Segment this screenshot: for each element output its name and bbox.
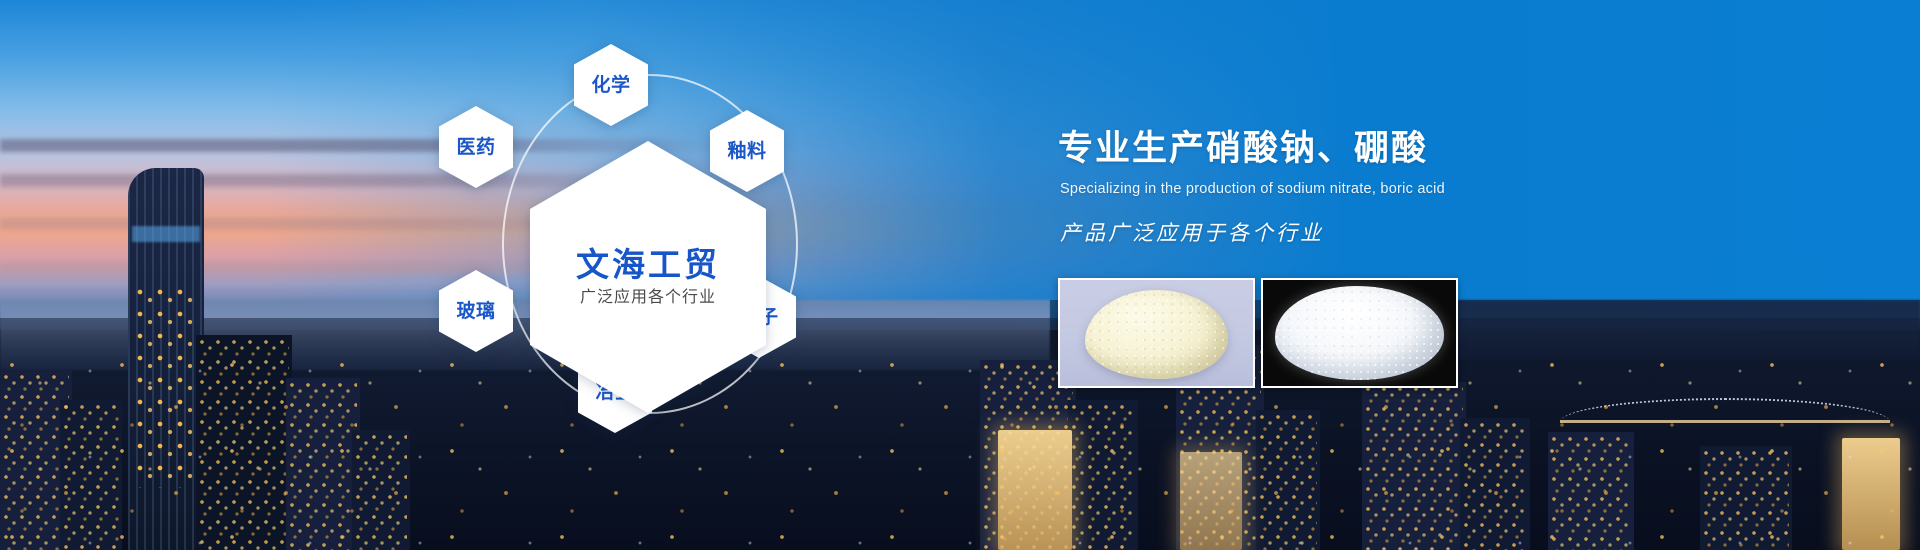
company-name: 文海工贸 xyxy=(576,248,720,281)
tagline-chinese: 产品广泛应用于各个行业 xyxy=(1060,217,1818,247)
hex-label: 釉料 xyxy=(727,142,766,161)
product-photo-group xyxy=(1058,278,1458,388)
headline-block: 专业生产硝酸钠、硼酸 Specializing in the productio… xyxy=(1058,128,1818,247)
hex-label: 医药 xyxy=(456,138,495,157)
industry-hexagon-diagram: 化学 釉料 电子 冶金 玻璃 医药 xyxy=(430,0,990,550)
product-photo-sodium-nitrate[interactable] xyxy=(1058,278,1255,388)
company-tagline: 广泛应用各个行业 xyxy=(580,290,716,306)
hexagon-icon: 玻璃 xyxy=(439,270,513,352)
headline: 专业生产硝酸钠、硼酸 xyxy=(1058,128,1818,171)
product-photo-boric-acid[interactable] xyxy=(1261,278,1458,388)
hex-label: 化学 xyxy=(591,76,630,95)
hex-label: 玻璃 xyxy=(456,302,495,321)
hexagon-icon: 医药 xyxy=(439,106,513,188)
promo-banner: 化学 釉料 电子 冶金 玻璃 医药 xyxy=(0,0,1920,550)
subheadline-english: Specializing in the production of sodium… xyxy=(1060,181,1818,197)
